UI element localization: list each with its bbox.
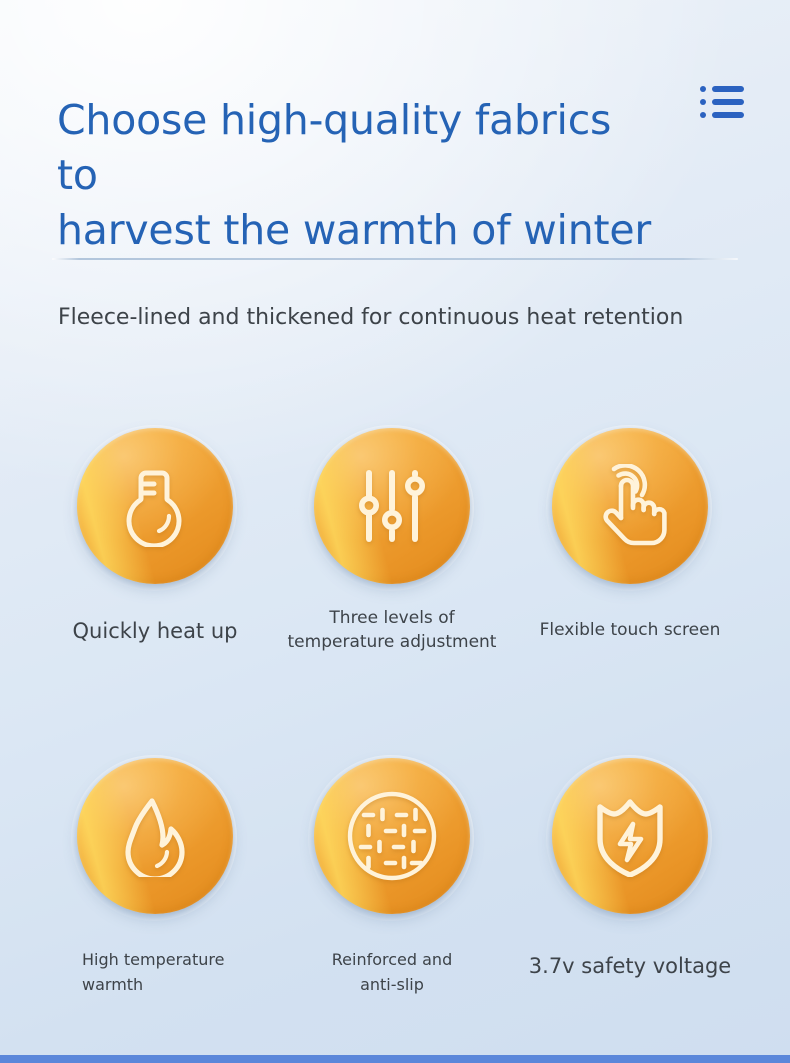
- feature-label: Three levels oftemperature adjustment: [272, 606, 512, 654]
- list-icon-bar: [712, 86, 744, 92]
- feature-label: Quickly heat up: [35, 618, 275, 645]
- page-title: Choose high-quality fabrics to harvest t…: [57, 93, 657, 258]
- feature-label: Reinforced andanti-slip: [272, 947, 512, 997]
- feature-badge: [75, 428, 235, 588]
- feature-grid: Quickly heat up: [0, 395, 790, 1055]
- feature-label: Flexible touch screen: [510, 618, 750, 642]
- list-icon[interactable]: [700, 80, 744, 124]
- feature-row: High temperaturewarmth: [0, 725, 790, 1055]
- badge-circle: [77, 758, 233, 914]
- feature-item-temperature-levels[interactable]: Three levels oftemperature adjustment: [272, 395, 512, 725]
- feature-item-high-temperature[interactable]: High temperaturewarmth: [35, 725, 275, 1055]
- badge-circle: [77, 428, 233, 584]
- list-icon-dot: [700, 86, 706, 92]
- feature-item-quickly-heat-up[interactable]: Quickly heat up: [35, 395, 275, 725]
- product-feature-page: Choose high-quality fabrics to harvest t…: [0, 0, 790, 1063]
- feature-item-touch-screen[interactable]: Flexible touch screen: [510, 395, 750, 725]
- page-title-line-2: harvest the warmth of winter: [57, 203, 657, 258]
- page-subtitle: Fleece-lined and thickened for continuou…: [58, 303, 683, 333]
- badge-circle: [314, 758, 470, 914]
- badge-circle: [552, 428, 708, 584]
- list-icon-row: [700, 112, 744, 118]
- feature-badge: [312, 428, 472, 588]
- list-icon-dot: [700, 112, 706, 118]
- list-icon-bar: [712, 112, 744, 118]
- feature-row: Quickly heat up: [0, 395, 790, 725]
- list-icon-bar: [712, 99, 744, 105]
- bottom-accent-bar: [0, 1055, 790, 1063]
- feature-item-safety-voltage[interactable]: 3.7v safety voltage: [510, 725, 750, 1055]
- feature-badge: [75, 758, 235, 918]
- feature-item-anti-slip[interactable]: Reinforced andanti-slip: [272, 725, 512, 1055]
- header-divider: [52, 258, 738, 260]
- page-title-line-1: Choose high-quality fabrics to: [57, 93, 657, 203]
- feature-label: 3.7v safety voltage: [510, 953, 750, 980]
- feature-badge: [312, 758, 472, 918]
- list-icon-dot: [700, 99, 706, 105]
- list-icon-row: [700, 86, 744, 92]
- page-header: Choose high-quality fabrics to harvest t…: [0, 0, 790, 260]
- feature-badge: [550, 428, 710, 588]
- list-icon-row: [700, 99, 744, 105]
- badge-circle: [314, 428, 470, 584]
- feature-badge: [550, 758, 710, 918]
- badge-circle: [552, 758, 708, 914]
- feature-label: High temperaturewarmth: [35, 947, 275, 997]
